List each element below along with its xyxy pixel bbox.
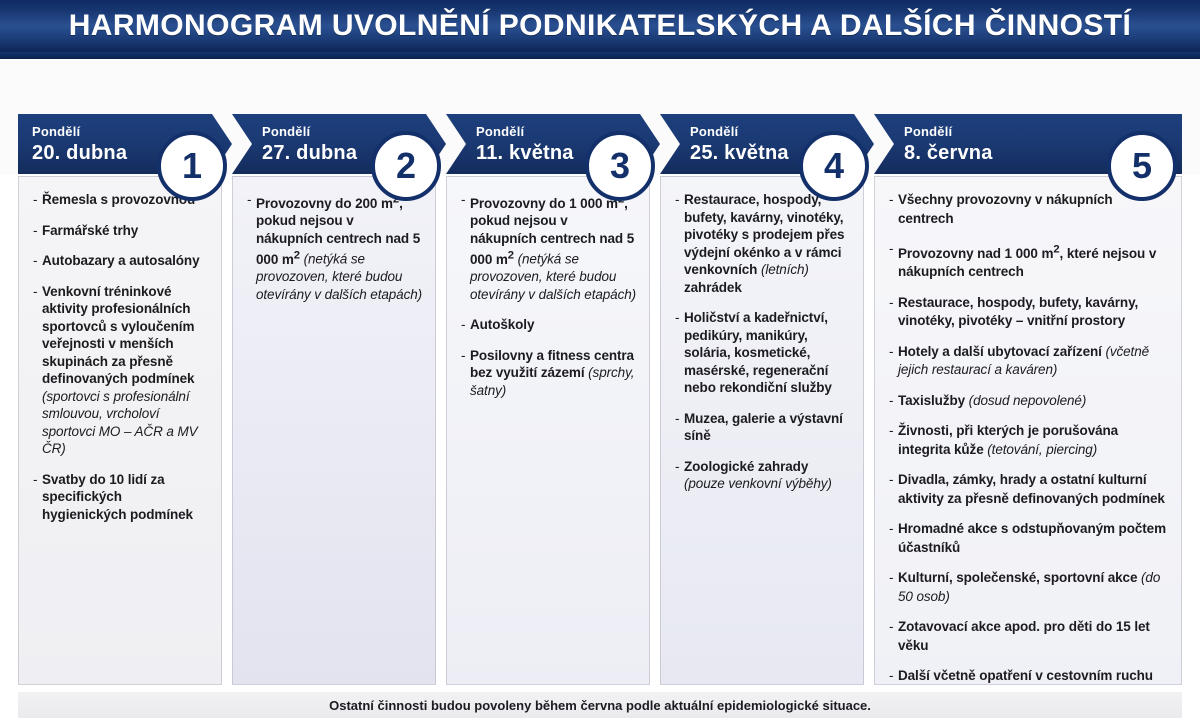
list-item-text: Muzea, galerie a výstavní síně bbox=[684, 410, 851, 445]
list-item-main: Zoologické zahrady bbox=[684, 459, 808, 474]
list-item-main: Divadla, zámky, hrady a ostatní kulturní… bbox=[898, 472, 1165, 506]
bullet-dash: - bbox=[33, 222, 42, 240]
list-item: -Muzea, galerie a výstavní síně bbox=[675, 410, 851, 445]
list-item-main: Venkovní tréninkové aktivity profesionál… bbox=[42, 284, 194, 387]
bullet-dash: - bbox=[33, 252, 42, 270]
list-item-note: (dosud nepovolené) bbox=[969, 393, 1087, 408]
list-item-main: Provozovny nad 1 000 m2, které nejsou v … bbox=[898, 246, 1156, 280]
list-item: -Holičství a kadeřnictví, pedikúry, mani… bbox=[675, 309, 851, 397]
list-item: -Kulturní, společenské, sportovní akce (… bbox=[889, 569, 1169, 606]
phase-number-badge-5: 5 bbox=[1107, 131, 1177, 201]
phase-number-badge-2: 2 bbox=[371, 131, 441, 201]
list-item: -Zotavovací akce apod. pro děti do 15 le… bbox=[889, 618, 1169, 655]
list-item-main: Hromadné akce s odstupňovaným počtem úča… bbox=[898, 521, 1166, 555]
bullet-dash: - bbox=[889, 471, 898, 508]
bullet-dash: - bbox=[889, 343, 898, 380]
phase-date: 25. května bbox=[690, 141, 789, 165]
list-item: -Provozovny do 200 m2, pokud nejsou v ná… bbox=[247, 191, 423, 303]
list-item-note: (letních) bbox=[761, 262, 809, 277]
bullet-dash: - bbox=[33, 191, 42, 209]
bullet-dash: - bbox=[889, 520, 898, 557]
list-item-text: Hotely a další ubytovací zařízení (včetn… bbox=[898, 343, 1169, 380]
bullet-dash: - bbox=[889, 667, 898, 685]
list-item-text: Provozovny do 1 000 m2, pokud nejsou v n… bbox=[470, 191, 637, 303]
phase-caption: Pondělí20. dubna bbox=[32, 124, 127, 165]
list-item-text: Zoologické zahrady (pouze venkovní výběh… bbox=[684, 458, 851, 493]
bullet-dash: - bbox=[889, 618, 898, 655]
list-item-text: Kulturní, společenské, sportovní akce (d… bbox=[898, 569, 1169, 606]
list-item-main: Taxislužby bbox=[898, 393, 969, 408]
bullet-dash: - bbox=[889, 422, 898, 459]
list-item: -Další včetně opatření v cestovním ruchu bbox=[889, 667, 1169, 685]
bullet-dash: - bbox=[675, 191, 684, 296]
bullet-dash: - bbox=[889, 191, 898, 228]
list-item-main: Farmářské trhy bbox=[42, 223, 138, 238]
list-item: -Farmářské trhy bbox=[33, 222, 209, 240]
phase-date: 11. května bbox=[476, 141, 574, 165]
phase-date: 27. dubna bbox=[262, 141, 357, 165]
list-item: -Živnosti, při kterých je porušována int… bbox=[889, 422, 1169, 459]
bullet-dash: - bbox=[461, 316, 470, 334]
list-item: -Hotely a další ubytovací zařízení (včet… bbox=[889, 343, 1169, 380]
list-item-text: Restaurace, hospody, bufety, kavárny, vi… bbox=[898, 294, 1169, 331]
list-item: -Svatby do 10 lidí za specifických hygie… bbox=[33, 471, 209, 524]
list-item-main: Holičství a kadeřnictví, pedikúry, manik… bbox=[684, 310, 832, 395]
list-item-text: Venkovní tréninkové aktivity profesionál… bbox=[42, 283, 209, 458]
bullet-dash: - bbox=[675, 458, 684, 493]
col-1: -Řemesla s provozovnou-Farmářské trhy-Au… bbox=[18, 176, 222, 685]
phase-dayofweek: Pondělí bbox=[476, 124, 574, 139]
bullet-dash: - bbox=[33, 471, 42, 524]
list-item: -Posilovny a fitness centra bez využití … bbox=[461, 347, 637, 400]
bullet-dash: - bbox=[889, 569, 898, 606]
bullet-dash: - bbox=[889, 392, 898, 411]
bullet-dash: - bbox=[675, 309, 684, 397]
phase-columns: -Řemesla s provozovnou-Farmářské trhy-Au… bbox=[0, 176, 1200, 686]
col-5: -Všechny provozovny v nákupních centrech… bbox=[874, 176, 1182, 685]
list-item-text: Divadla, zámky, hrady a ostatní kulturní… bbox=[898, 471, 1169, 508]
list-item-text: Posilovny a fitness centra bez využití z… bbox=[470, 347, 637, 400]
list-item-main: Svatby do 10 lidí za specifických hygien… bbox=[42, 472, 193, 522]
list-item-note: (pouze venkovní výběhy) bbox=[684, 476, 832, 491]
list-item: -Restaurace, hospody, bufety, kavárny, v… bbox=[675, 191, 851, 296]
bullet-dash: - bbox=[675, 410, 684, 445]
col-2: -Provozovny do 200 m2, pokud nejsou v ná… bbox=[232, 176, 436, 685]
list-item-main: Kulturní, společenské, sportovní akce bbox=[898, 570, 1137, 585]
list-item-text: Zotavovací akce apod. pro děti do 15 let… bbox=[898, 618, 1169, 655]
list-item-text: Autoškoly bbox=[470, 316, 637, 334]
list-item: -Hromadné akce s odstupňovaným počtem úč… bbox=[889, 520, 1169, 557]
bullet-dash: - bbox=[889, 294, 898, 331]
list-item-text: Další včetně opatření v cestovním ruchu bbox=[898, 667, 1169, 685]
list-item-text: Svatby do 10 lidí za specifických hygien… bbox=[42, 471, 209, 524]
list-item-note: (sportovci s profesionální smlouvou, vrc… bbox=[42, 389, 198, 457]
list-item-text: Živnosti, při kterých je porušována inte… bbox=[898, 422, 1169, 459]
footer-note: Ostatní činnosti budou povoleny během če… bbox=[329, 698, 871, 713]
superscript-two: 2 bbox=[1053, 243, 1059, 255]
bullet-dash: - bbox=[461, 347, 470, 400]
list-item-text: Restaurace, hospody, bufety, kavárny, vi… bbox=[684, 191, 851, 296]
footer-bar: Ostatní činnosti budou povoleny během če… bbox=[18, 692, 1182, 718]
list-item-main: Autoškoly bbox=[470, 317, 534, 332]
phase-dayofweek: Pondělí bbox=[690, 124, 789, 139]
superscript-two: 2 bbox=[294, 249, 300, 261]
bullet-dash: - bbox=[33, 283, 42, 458]
list-item-main: Muzea, galerie a výstavní síně bbox=[684, 411, 843, 444]
list-item: -Taxislužby (dosud nepovolené) bbox=[889, 392, 1169, 411]
col-3: -Provozovny do 1 000 m2, pokud nejsou v … bbox=[446, 176, 650, 685]
list-item-main: Restaurace, hospody, bufety, kavárny, vi… bbox=[898, 295, 1138, 329]
superscript-two: 2 bbox=[508, 249, 514, 261]
bullet-dash: - bbox=[889, 240, 898, 282]
phase-caption: Pondělí25. května bbox=[690, 124, 789, 165]
phase-number-badge-4: 4 bbox=[799, 131, 869, 201]
phase-caption: Pondělí27. dubna bbox=[262, 124, 357, 165]
list-item: -Autoškoly bbox=[461, 316, 637, 334]
timeline-header: Pondělí20. dubnaPondělí27. dubnaPondělí1… bbox=[0, 59, 1200, 175]
phase-date: 8. června bbox=[904, 141, 993, 165]
list-item-note: (tetování, piercing) bbox=[987, 442, 1097, 457]
list-item-tail: zahrádek bbox=[684, 280, 742, 295]
bullet-dash: - bbox=[461, 191, 470, 303]
list-item-text: Autobazary a autosalóny bbox=[42, 252, 209, 270]
phase-caption: Pondělí8. června bbox=[904, 124, 993, 165]
list-item-text: Taxislužby (dosud nepovolené) bbox=[898, 392, 1169, 411]
bullet-dash: - bbox=[247, 191, 256, 303]
col-4: -Restaurace, hospody, bufety, kavárny, v… bbox=[660, 176, 864, 685]
title-underline bbox=[0, 52, 1200, 59]
phase-dayofweek: Pondělí bbox=[262, 124, 357, 139]
list-item-text: Holičství a kadeřnictví, pedikúry, manik… bbox=[684, 309, 851, 397]
list-item-text: Provozovny nad 1 000 m2, které nejsou v … bbox=[898, 240, 1169, 282]
list-item: -Autobazary a autosalóny bbox=[33, 252, 209, 270]
list-item: -Provozovny nad 1 000 m2, které nejsou v… bbox=[889, 240, 1169, 282]
list-item-main: Všechny provozovny v nákupních centrech bbox=[898, 192, 1113, 226]
phase-dayofweek: Pondělí bbox=[904, 124, 993, 139]
list-item: -Divadla, zámky, hrady a ostatní kulturn… bbox=[889, 471, 1169, 508]
list-item-main: Zotavovací akce apod. pro děti do 15 let… bbox=[898, 619, 1150, 653]
phase-date: 20. dubna bbox=[32, 141, 127, 165]
phase-caption: Pondělí11. května bbox=[476, 124, 574, 165]
list-item-text: Hromadné akce s odstupňovaným počtem úča… bbox=[898, 520, 1169, 557]
list-item: -Restaurace, hospody, bufety, kavárny, v… bbox=[889, 294, 1169, 331]
list-item-main: Hotely a další ubytovací zařízení bbox=[898, 344, 1102, 359]
list-item-main: Autobazary a autosalóny bbox=[42, 253, 200, 268]
list-item: -Venkovní tréninkové aktivity profesioná… bbox=[33, 283, 209, 458]
list-item-text: Farmářské trhy bbox=[42, 222, 209, 240]
phase-number-badge-1: 1 bbox=[157, 131, 227, 201]
page-title: HARMONOGRAM UVOLNĚNÍ PODNIKATELSKÝCH A D… bbox=[69, 9, 1132, 43]
phase-dayofweek: Pondělí bbox=[32, 124, 127, 139]
list-item: -Provozovny do 1 000 m2, pokud nejsou v … bbox=[461, 191, 637, 303]
list-item-text: Provozovny do 200 m2, pokud nejsou v nák… bbox=[256, 191, 423, 303]
list-item: -Zoologické zahrady (pouze venkovní výbě… bbox=[675, 458, 851, 493]
title-bar: HARMONOGRAM UVOLNĚNÍ PODNIKATELSKÝCH A D… bbox=[0, 0, 1200, 52]
list-item-main: Další včetně opatření v cestovním ruchu bbox=[898, 668, 1153, 683]
phase-number-badge-3: 3 bbox=[585, 131, 655, 201]
